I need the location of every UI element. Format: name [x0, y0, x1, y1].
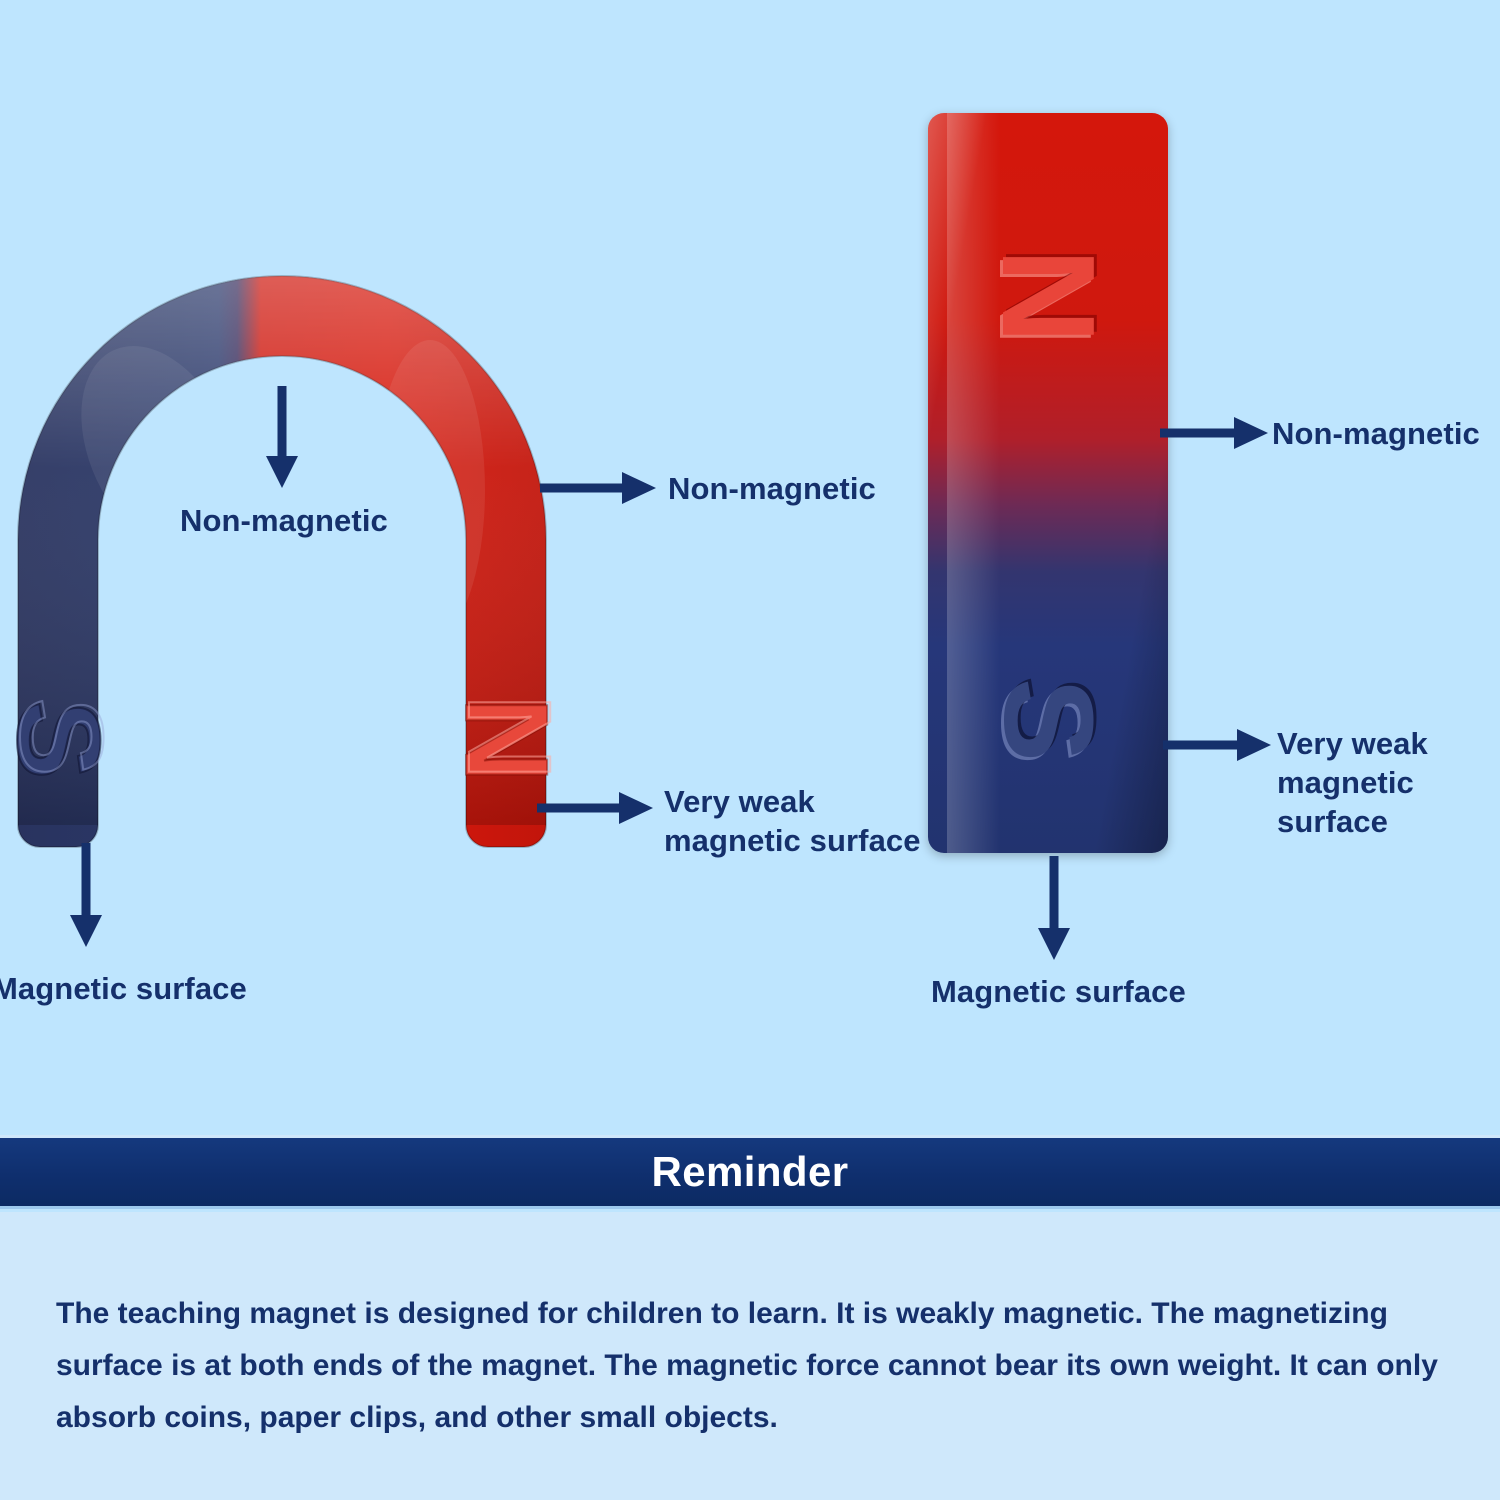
reminder-title: Reminder [652, 1151, 849, 1193]
down-arrow-icon-horseshoe-magnetic [66, 843, 106, 949]
down-arrow-icon-horseshoe-arc [262, 386, 302, 490]
horseshoe-magnet: S S N N [10, 240, 555, 850]
horseshoe-s-pole-letter: S S [10, 698, 127, 780]
down-arrow-icon-bar-magnetic [1034, 856, 1074, 962]
label-horseshoe-magnetic-surface: Magnetic surface [0, 969, 247, 1008]
svg-text:N: N [443, 694, 555, 779]
bar-magnet-n-pole-letter: N [982, 177, 1114, 417]
bar-magnet-body: N S [928, 113, 1168, 853]
label-bar-nonmagnetic: Non-magnetic [1272, 414, 1480, 453]
label-horseshoe-side-nonmagnetic: Non-magnetic [668, 469, 876, 508]
right-arrow-icon-horseshoe-nonmagnetic [540, 468, 658, 508]
reminder-body-panel: The teaching magnet is designed for chil… [0, 1212, 1500, 1500]
label-horseshoe-very-weak: Very weak magnetic surface [664, 782, 921, 860]
reminder-banner: Reminder [0, 1135, 1500, 1209]
magnet-illustration-area: S S N N N S [0, 0, 1500, 1135]
svg-text:S: S [10, 698, 127, 777]
label-bar-magnetic-surface: Magnetic surface [931, 972, 1186, 1011]
horseshoe-n-pole-letter: N N [440, 694, 555, 782]
reminder-body-text: The teaching magnet is designed for chil… [56, 1288, 1444, 1444]
right-arrow-icon-horseshoe-veryweak [537, 788, 655, 828]
label-horseshoe-arc-nonmagnetic: Non-magnetic [180, 501, 388, 540]
bar-magnet-s-pole-letter: S [985, 601, 1111, 841]
right-arrow-icon-bar-nonmagnetic [1160, 413, 1270, 453]
label-bar-very-weak: Very weak magnetic surface [1277, 724, 1500, 841]
right-arrow-icon-bar-veryweak [1163, 725, 1273, 765]
product-infographic: S S N N N S [0, 0, 1500, 1500]
bar-magnet: N S [928, 113, 1168, 853]
